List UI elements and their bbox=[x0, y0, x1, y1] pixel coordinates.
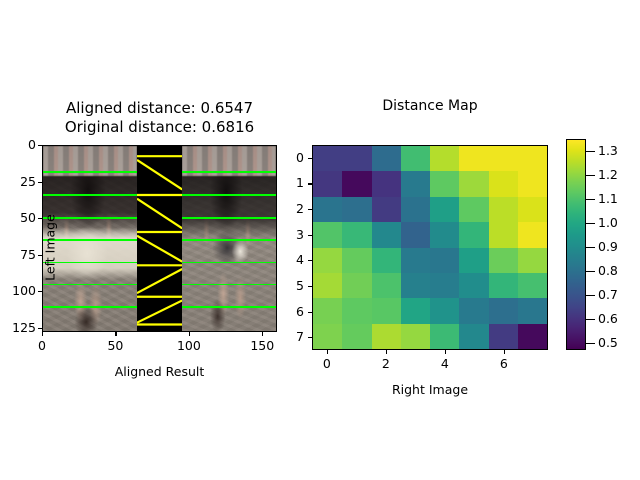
heatmap-ytick-mark-0 bbox=[308, 158, 312, 159]
heatmap-cell-1-5 bbox=[459, 171, 488, 196]
left-xtick-label-0: 0 bbox=[20, 338, 64, 353]
left-ytick-label-1: 25 bbox=[2, 174, 36, 189]
heatmap-cell-7-1 bbox=[342, 324, 371, 349]
heatmap-cell-6-7 bbox=[518, 298, 547, 323]
heatmap-cell-2-1 bbox=[342, 197, 371, 222]
heatmap-cell-3-2 bbox=[372, 222, 401, 247]
colorbar-tick-label-0: 0.5 bbox=[598, 335, 618, 350]
heatmap-cell-2-0 bbox=[313, 197, 342, 222]
heatmap-cell-5-5 bbox=[459, 273, 488, 298]
colorbar-tick-mark-3 bbox=[586, 271, 595, 272]
colorbar-tick-label-6: 1.1 bbox=[598, 191, 618, 206]
heatmap-cell-3-3 bbox=[401, 222, 430, 247]
heatmap-cell-4-3 bbox=[401, 248, 430, 273]
heatmap-ytick-label-1: 1 bbox=[278, 175, 304, 190]
heatmap-cell-2-7 bbox=[518, 197, 547, 222]
connector-line-9 bbox=[137, 300, 182, 322]
heatmap-cell-4-6 bbox=[489, 248, 518, 273]
heatmap-ytick-mark-5 bbox=[308, 286, 312, 287]
colorbar-tick-mark-0 bbox=[586, 343, 595, 344]
heatmap-cell-4-7 bbox=[518, 248, 547, 273]
heatmap-cell-4-5 bbox=[459, 248, 488, 273]
heatmap-cell-2-2 bbox=[372, 197, 401, 222]
heatmap-cell-6-3 bbox=[401, 298, 430, 323]
left-xtick-label-3: 150 bbox=[240, 338, 284, 353]
heatmap-xtick-label-1: 2 bbox=[366, 356, 406, 371]
colorbar-tick-label-5: 1.0 bbox=[598, 215, 618, 230]
colorbar-tick-label-3: 0.8 bbox=[598, 263, 618, 278]
heatmap-ytick-label-0: 0 bbox=[278, 150, 304, 165]
heatmap-cell-7-4 bbox=[430, 324, 459, 349]
heatmap-ytick-mark-6 bbox=[308, 312, 312, 313]
heatmap-xtick-mark-3 bbox=[504, 350, 505, 354]
colorbar-tick-label-7: 1.2 bbox=[598, 167, 618, 182]
heatmap-cell-7-7 bbox=[518, 324, 547, 349]
left-ytick-label-3: 75 bbox=[2, 247, 36, 262]
heatmap-cell-2-6 bbox=[489, 197, 518, 222]
heatmap-cell-3-6 bbox=[489, 222, 518, 247]
heatmap-cell-5-7 bbox=[518, 273, 547, 298]
aligned-result-image bbox=[43, 146, 276, 331]
right-person-image bbox=[182, 146, 276, 331]
heatmap-cell-5-1 bbox=[342, 273, 371, 298]
heatmap-cell-1-1 bbox=[342, 171, 371, 196]
colorbar-tick-label-1: 0.6 bbox=[598, 311, 618, 326]
heatmap-cell-6-1 bbox=[342, 298, 371, 323]
connector-lines-svg bbox=[137, 146, 182, 331]
heatmap-cell-5-0 bbox=[313, 273, 342, 298]
stripe-line-right-1 bbox=[182, 194, 276, 196]
heatmap-cell-2-5 bbox=[459, 197, 488, 222]
heatmap-cell-7-3 bbox=[401, 324, 430, 349]
heatmap-xtick-label-0: 0 bbox=[307, 356, 347, 371]
heatmap-cell-2-4 bbox=[430, 197, 459, 222]
heatmap-cell-3-4 bbox=[430, 222, 459, 247]
heatmap-cell-6-6 bbox=[489, 298, 518, 323]
stripe-line-right-0 bbox=[182, 171, 276, 173]
connector-line-5 bbox=[137, 236, 182, 262]
heatmap-cell-0-4 bbox=[430, 146, 459, 171]
heatmap-cell-7-5 bbox=[459, 324, 488, 349]
heatmap-cell-0-5 bbox=[459, 146, 488, 171]
heatmap-cell-2-3 bbox=[401, 197, 430, 222]
left-ytick-mark-3 bbox=[38, 255, 42, 256]
heatmap-cell-4-0 bbox=[313, 248, 342, 273]
heatmap-cell-3-0 bbox=[313, 222, 342, 247]
distance-map-axes bbox=[312, 145, 548, 350]
heatmap-cell-5-3 bbox=[401, 273, 430, 298]
colorbar-tick-mark-1 bbox=[586, 319, 595, 320]
heatmap-ytick-label-2: 2 bbox=[278, 201, 304, 216]
connector-line-3 bbox=[137, 199, 182, 229]
distance-map-heatmap bbox=[313, 146, 547, 349]
heatmap-cell-0-1 bbox=[342, 146, 371, 171]
left-xtick-label-1: 50 bbox=[93, 338, 137, 353]
heatmap-cell-0-6 bbox=[489, 146, 518, 171]
heatmap-cell-4-1 bbox=[342, 248, 371, 273]
left-ytick-mark-0 bbox=[38, 145, 42, 146]
heatmap-cell-0-7 bbox=[518, 146, 547, 171]
heatmap-cell-6-2 bbox=[372, 298, 401, 323]
original-distance-title: Original distance: 0.6816 bbox=[42, 118, 277, 136]
connector-line-1 bbox=[137, 160, 182, 190]
stripe-line-left-0 bbox=[43, 171, 137, 173]
heatmap-cell-5-6 bbox=[489, 273, 518, 298]
left-ytick-label-5: 125 bbox=[2, 320, 36, 335]
heatmap-xtick-label-3: 6 bbox=[484, 356, 524, 371]
colorbar-tick-mark-2 bbox=[586, 295, 595, 296]
heatmap-xtick-mark-2 bbox=[445, 350, 446, 354]
left-ytick-mark-4 bbox=[38, 291, 42, 292]
heatmap-ytick-mark-4 bbox=[308, 260, 312, 261]
left-xtick-label-2: 100 bbox=[167, 338, 211, 353]
heatmap-ytick-mark-7 bbox=[308, 337, 312, 338]
colorbar-tick-mark-8 bbox=[586, 151, 595, 152]
stripe-line-right-4 bbox=[182, 262, 276, 264]
heatmap-ytick-mark-1 bbox=[308, 183, 312, 184]
alignment-connector-strip bbox=[137, 146, 182, 331]
left-ytick-label-0: 0 bbox=[2, 137, 36, 152]
heatmap-cell-1-2 bbox=[372, 171, 401, 196]
heatmap-cell-4-2 bbox=[372, 248, 401, 273]
heatmap-cell-1-3 bbox=[401, 171, 430, 196]
heatmap-cell-3-7 bbox=[518, 222, 547, 247]
left-xtick-mark-0 bbox=[42, 332, 43, 336]
heatmap-cell-7-0 bbox=[313, 324, 342, 349]
heatmap-cell-1-4 bbox=[430, 171, 459, 196]
aligned-result-axes bbox=[42, 145, 277, 332]
left-xtick-mark-1 bbox=[115, 332, 116, 336]
heatmap-cell-5-4 bbox=[430, 273, 459, 298]
heatmap-cell-3-1 bbox=[342, 222, 371, 247]
left-ytick-label-2: 50 bbox=[2, 210, 36, 225]
heatmap-cell-6-4 bbox=[430, 298, 459, 323]
heatmap-cell-5-2 bbox=[372, 273, 401, 298]
colorbar-tick-mark-5 bbox=[586, 223, 595, 224]
heatmap-ytick-label-6: 6 bbox=[278, 304, 304, 319]
heatmap-xlabel: Right Image bbox=[312, 382, 548, 397]
heatmap-xtick-mark-0 bbox=[327, 350, 328, 354]
left-xtick-mark-2 bbox=[189, 332, 190, 336]
heatmap-cell-0-0 bbox=[313, 146, 342, 171]
left-xtick-mark-3 bbox=[262, 332, 263, 336]
heatmap-cell-0-3 bbox=[401, 146, 430, 171]
left-ytick-mark-2 bbox=[38, 218, 42, 219]
stripe-line-right-5 bbox=[182, 284, 276, 286]
heatmap-ytick-mark-3 bbox=[308, 235, 312, 236]
heatmap-cell-6-0 bbox=[313, 298, 342, 323]
stripe-line-right-6 bbox=[182, 306, 276, 308]
matplotlib-figure: Aligned distance: 0.6547 Original distan… bbox=[0, 0, 640, 480]
colorbar-tick-mark-6 bbox=[586, 199, 595, 200]
colorbar-tick-label-2: 0.7 bbox=[598, 287, 618, 302]
heatmap-cell-1-7 bbox=[518, 171, 547, 196]
heatmap-ytick-label-3: 3 bbox=[278, 227, 304, 242]
left-panel-xlabel: Aligned Result bbox=[42, 364, 277, 379]
distance-colorbar bbox=[566, 139, 586, 350]
distance-map-title: Distance Map bbox=[312, 98, 548, 114]
heatmap-ytick-mark-2 bbox=[308, 209, 312, 210]
heatmap-cell-1-0 bbox=[313, 171, 342, 196]
heatmap-ytick-label-5: 5 bbox=[278, 278, 304, 293]
heatmap-xtick-label-2: 4 bbox=[425, 356, 465, 371]
connector-line-7 bbox=[137, 269, 182, 293]
heatmap-cell-7-2 bbox=[372, 324, 401, 349]
heatmap-cell-4-4 bbox=[430, 248, 459, 273]
colorbar-tick-label-4: 0.9 bbox=[598, 239, 618, 254]
stripe-line-right-2 bbox=[182, 217, 276, 219]
colorbar-tick-mark-4 bbox=[586, 247, 595, 248]
left-ytick-mark-5 bbox=[38, 328, 42, 329]
heatmap-cell-1-6 bbox=[489, 171, 518, 196]
heatmap-cell-6-5 bbox=[459, 298, 488, 323]
heatmap-cell-7-6 bbox=[489, 324, 518, 349]
heatmap-ytick-label-4: 4 bbox=[278, 252, 304, 267]
stripe-line-right-3 bbox=[182, 239, 276, 241]
left-ytick-label-4: 100 bbox=[2, 283, 36, 298]
heatmap-cell-0-2 bbox=[372, 146, 401, 171]
colorbar-tick-mark-7 bbox=[586, 175, 595, 176]
colorbar-tick-label-8: 1.3 bbox=[598, 143, 618, 158]
aligned-distance-title: Aligned distance: 0.6547 bbox=[42, 99, 277, 117]
heatmap-ylabel: Left Image bbox=[43, 188, 58, 308]
heatmap-xtick-mark-1 bbox=[386, 350, 387, 354]
left-ytick-mark-1 bbox=[38, 182, 42, 183]
heatmap-cell-3-5 bbox=[459, 222, 488, 247]
